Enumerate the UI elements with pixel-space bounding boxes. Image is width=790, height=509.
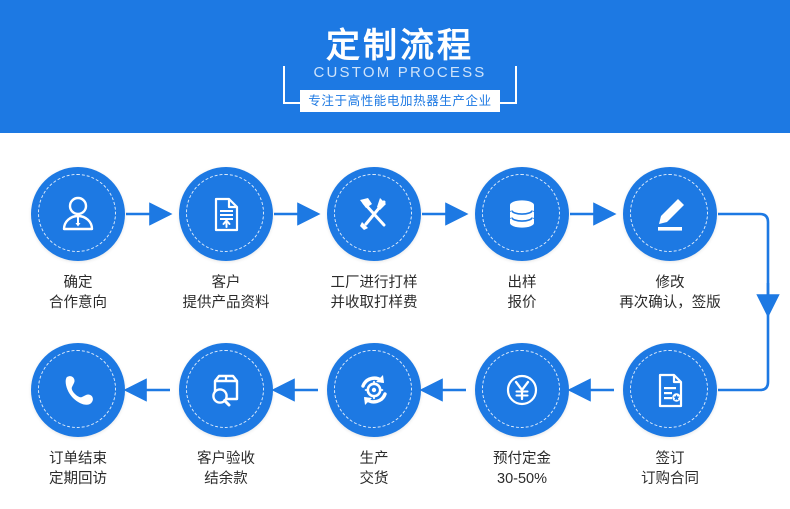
user-icon [31,167,125,261]
flow-step-1-line2: 合作意向 [23,293,133,313]
flow-step-7-line2: 30-50% [467,469,577,489]
flow-step-7-circle[interactable] [475,343,569,437]
flow-step-9-label: 客户验收 结余款 [171,449,281,489]
flow-step-8[interactable]: 生产 交货 [319,343,429,489]
page-subtitle-english: CUSTOM PROCESS [283,63,517,83]
flow-step-8-label: 生产 交货 [319,449,429,489]
flow-step-6-line2: 订购合同 [615,469,725,489]
flow-step-2-circle[interactable] [179,167,273,261]
phone-callback-icon [31,343,125,437]
flow-step-9-line1: 客户验收 [197,451,255,467]
flow-step-1[interactable]: 确定 合作意向 [23,167,133,313]
yuan-coin-icon [475,343,569,437]
flow-step-7[interactable]: 预付定金 30-50% [467,343,577,489]
flow-step-8-line1: 生产 [360,451,389,467]
production-cycle-icon [327,343,421,437]
flow-step-10-line1: 订单结束 [49,451,107,467]
flow-step-8-circle[interactable] [327,343,421,437]
document-upload-icon [179,167,273,261]
flow-step-7-label: 预付定金 30-50% [467,449,577,489]
flow-step-4-line1: 出样 [508,275,537,291]
flow-step-2[interactable]: 客户 提供产品资料 [171,167,281,313]
flow-step-5-line1: 修改 [656,275,685,291]
tools-icon [327,167,421,261]
flow-step-5-line2: 再次确认，签版 [615,293,725,313]
flow-step-6-line1: 签订 [656,451,685,467]
tagline-badge: 专注于高性能电加热器生产企业 [300,90,499,112]
process-flow-diagram: 确定 合作意向 客户 提供产品资料 [0,133,790,509]
flow-step-10[interactable]: 订单结束 定期回访 [23,343,133,489]
flow-step-4-line2: 报价 [467,293,577,313]
flow-step-5-label: 修改 再次确认，签版 [615,273,725,313]
flow-step-4[interactable]: 出样 报价 [467,167,577,313]
flow-step-3-circle[interactable] [327,167,421,261]
stack-icon [475,167,569,261]
header-banner: 定制流程 CUSTOM PROCESS 专注于高性能电加热器生产企业 [0,0,790,133]
flow-step-6-label: 签订 订购合同 [615,449,725,489]
tagline-container: 专注于高性能电加热器生产企业 [283,90,517,112]
flow-step-1-circle[interactable] [31,167,125,261]
flow-step-9-circle[interactable] [179,343,273,437]
flow-step-3-label: 工厂进行打样 并收取打样费 [319,273,429,313]
flow-step-8-line2: 交货 [319,469,429,489]
flow-step-1-line1: 确定 [64,275,93,291]
contract-seal-icon [623,343,717,437]
page-title: 定制流程 [283,24,517,66]
flow-step-4-label: 出样 报价 [467,273,577,313]
flow-step-1-label: 确定 合作意向 [23,273,133,313]
flow-step-10-circle[interactable] [31,343,125,437]
box-inspect-icon [179,343,273,437]
flow-step-9[interactable]: 客户验收 结余款 [171,343,281,489]
flow-step-3-line2: 并收取打样费 [319,293,429,313]
flow-step-4-circle[interactable] [475,167,569,261]
flow-step-2-line1: 客户 [212,275,241,291]
connector-right-loop [718,214,768,390]
flow-step-6-circle[interactable] [623,343,717,437]
flow-step-7-line1: 预付定金 [493,451,551,467]
flow-step-10-label: 订单结束 定期回访 [23,449,133,489]
flow-step-5-circle[interactable] [623,167,717,261]
flow-step-10-line2: 定期回访 [23,469,133,489]
flow-step-9-line2: 结余款 [171,469,281,489]
flow-step-2-label: 客户 提供产品资料 [171,273,281,313]
flow-step-3-line1: 工厂进行打样 [331,275,418,291]
flow-step-3[interactable]: 工厂进行打样 并收取打样费 [319,167,429,313]
flow-step-2-line2: 提供产品资料 [171,293,281,313]
pencil-icon [623,167,717,261]
flow-step-5[interactable]: 修改 再次确认，签版 [615,167,725,313]
flow-step-6[interactable]: 签订 订购合同 [615,343,725,489]
